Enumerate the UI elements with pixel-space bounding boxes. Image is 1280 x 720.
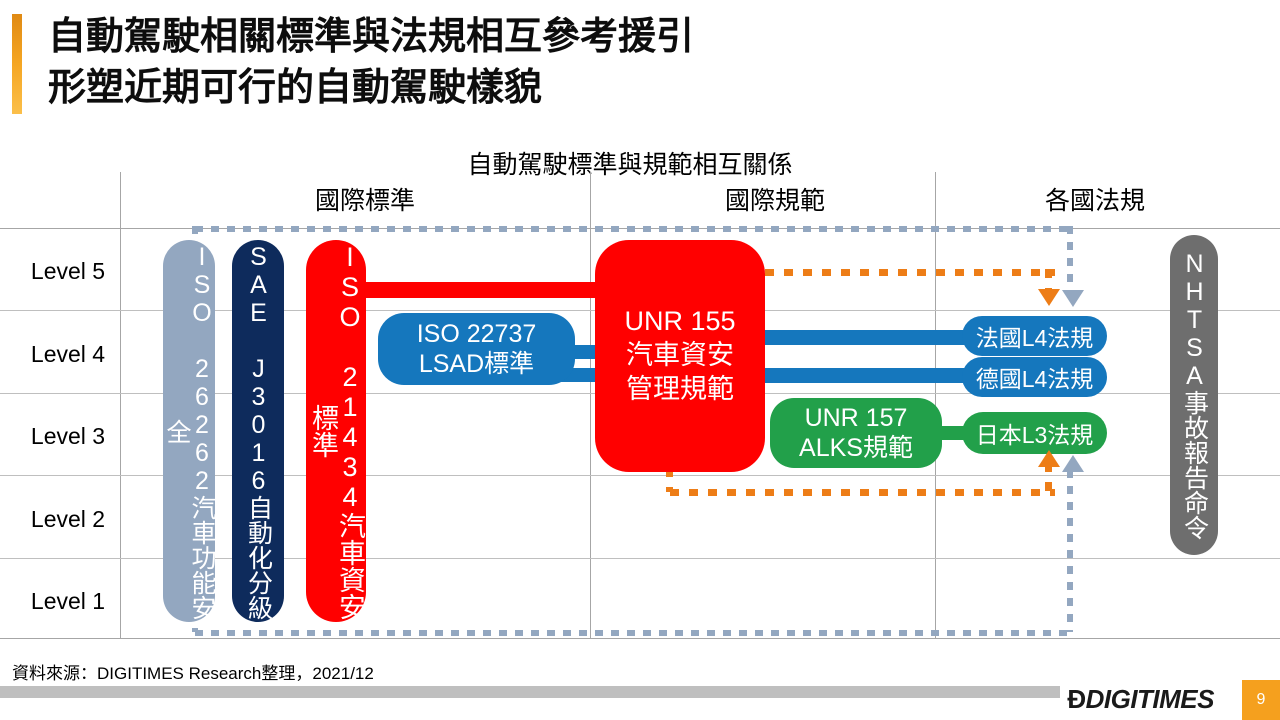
node-germany-l4-label: 德國L4法規	[976, 360, 1094, 394]
dotted-path-gray-top	[195, 226, 1073, 232]
grid-vline-mid	[590, 172, 591, 638]
connector-unr155-to-france-l4	[755, 330, 985, 345]
node-france-l4[interactable]: 法國L4法規	[962, 316, 1107, 356]
title-accent-bar	[12, 14, 22, 114]
node-unr155[interactable]: UNR 155 汽車資安 管理規範	[595, 240, 765, 472]
node-japan-l3[interactable]: 日本L3法規	[962, 412, 1107, 454]
arrow-gray-down-to-france	[1062, 290, 1084, 307]
node-iso22737-label: ISO 22737 LSAD標準	[417, 319, 537, 380]
node-sae-j3016[interactable]: SAE J3016自動化分級	[232, 240, 284, 622]
slide-canvas: 自動駕駛相關標準與法規相互參考援引 形塑近期可行的自動駕駛樣貌 自動駕駛標準與規…	[0, 0, 1280, 720]
row-label-level-5: Level 5	[18, 258, 118, 288]
grid-vline-left	[120, 172, 121, 638]
arrow-orange-up-to-japan	[1038, 450, 1060, 467]
node-sae-j3016-label: SAE J3016自動化分級	[246, 243, 271, 620]
node-iso26262-label: ISO 26262汽車功能安全	[164, 240, 214, 622]
connector-unr155-to-germany-l4	[755, 368, 985, 383]
logo-text: DIGITIMES	[1086, 684, 1214, 714]
node-unr155-label: UNR 155 汽車資安 管理規範	[624, 305, 735, 406]
row-label-level-3: Level 3	[18, 423, 118, 453]
arrow-orange-down-to-france	[1038, 289, 1060, 306]
dotted-path-gray-bottom	[195, 630, 1073, 636]
source-note: 資料來源：DIGITIMES Research整理，2021/12	[12, 659, 374, 684]
dotted-path-orange-bottom	[670, 489, 1055, 496]
node-unr157[interactable]: UNR 157 ALKS規範	[770, 398, 942, 468]
page-number-badge: 9	[1242, 680, 1280, 720]
row-label-level-1: Level 1	[18, 588, 118, 618]
chart-title: 自動駕駛標準與規範相互關係	[380, 145, 880, 181]
footer-bar	[0, 686, 1060, 698]
column-header-international-regulations: 國際規範	[640, 181, 910, 217]
grid-hline-bottom	[0, 638, 1280, 639]
column-header-international-standards: 國際標準	[220, 181, 510, 217]
node-iso21434-label: ISO 21434汽車資安標準	[309, 240, 363, 622]
connector-iso21434-to-unr155	[335, 282, 600, 298]
dotted-path-gray-right-up	[1067, 470, 1073, 632]
node-france-l4-label: 法國L4法規	[976, 319, 1094, 353]
row-label-level-2: Level 2	[18, 506, 118, 536]
node-iso22737[interactable]: ISO 22737 LSAD標準	[378, 313, 575, 385]
page-title: 自動駕駛相關標準與法規相互參考援引 形塑近期可行的自動駕駛樣貌	[48, 12, 1148, 115]
dotted-path-orange-right-up	[1045, 463, 1052, 492]
node-nhtsa[interactable]: NHTSA事故報告命令	[1170, 235, 1218, 555]
arrow-gray-up-to-japan	[1062, 455, 1084, 472]
column-header-national-laws: 各國法規	[960, 181, 1230, 217]
logo-mark-icon: Ɖ	[1067, 684, 1085, 714]
node-unr157-label: UNR 157 ALKS規範	[799, 403, 913, 464]
digitimes-logo: ƉDIGITIMES	[1067, 684, 1214, 715]
node-iso26262[interactable]: ISO 26262汽車功能安全	[163, 240, 215, 622]
row-label-level-4: Level 4	[18, 341, 118, 371]
dotted-path-orange-top	[765, 269, 1055, 276]
node-germany-l4[interactable]: 德國L4法規	[962, 357, 1107, 397]
node-nhtsa-label: NHTSA事故報告命令	[1182, 250, 1207, 540]
node-japan-l3-label: 日本L3法規	[976, 416, 1094, 450]
node-iso21434[interactable]: ISO 21434汽車資安標準	[306, 240, 366, 622]
dotted-path-gray-right-down	[1067, 226, 1073, 298]
